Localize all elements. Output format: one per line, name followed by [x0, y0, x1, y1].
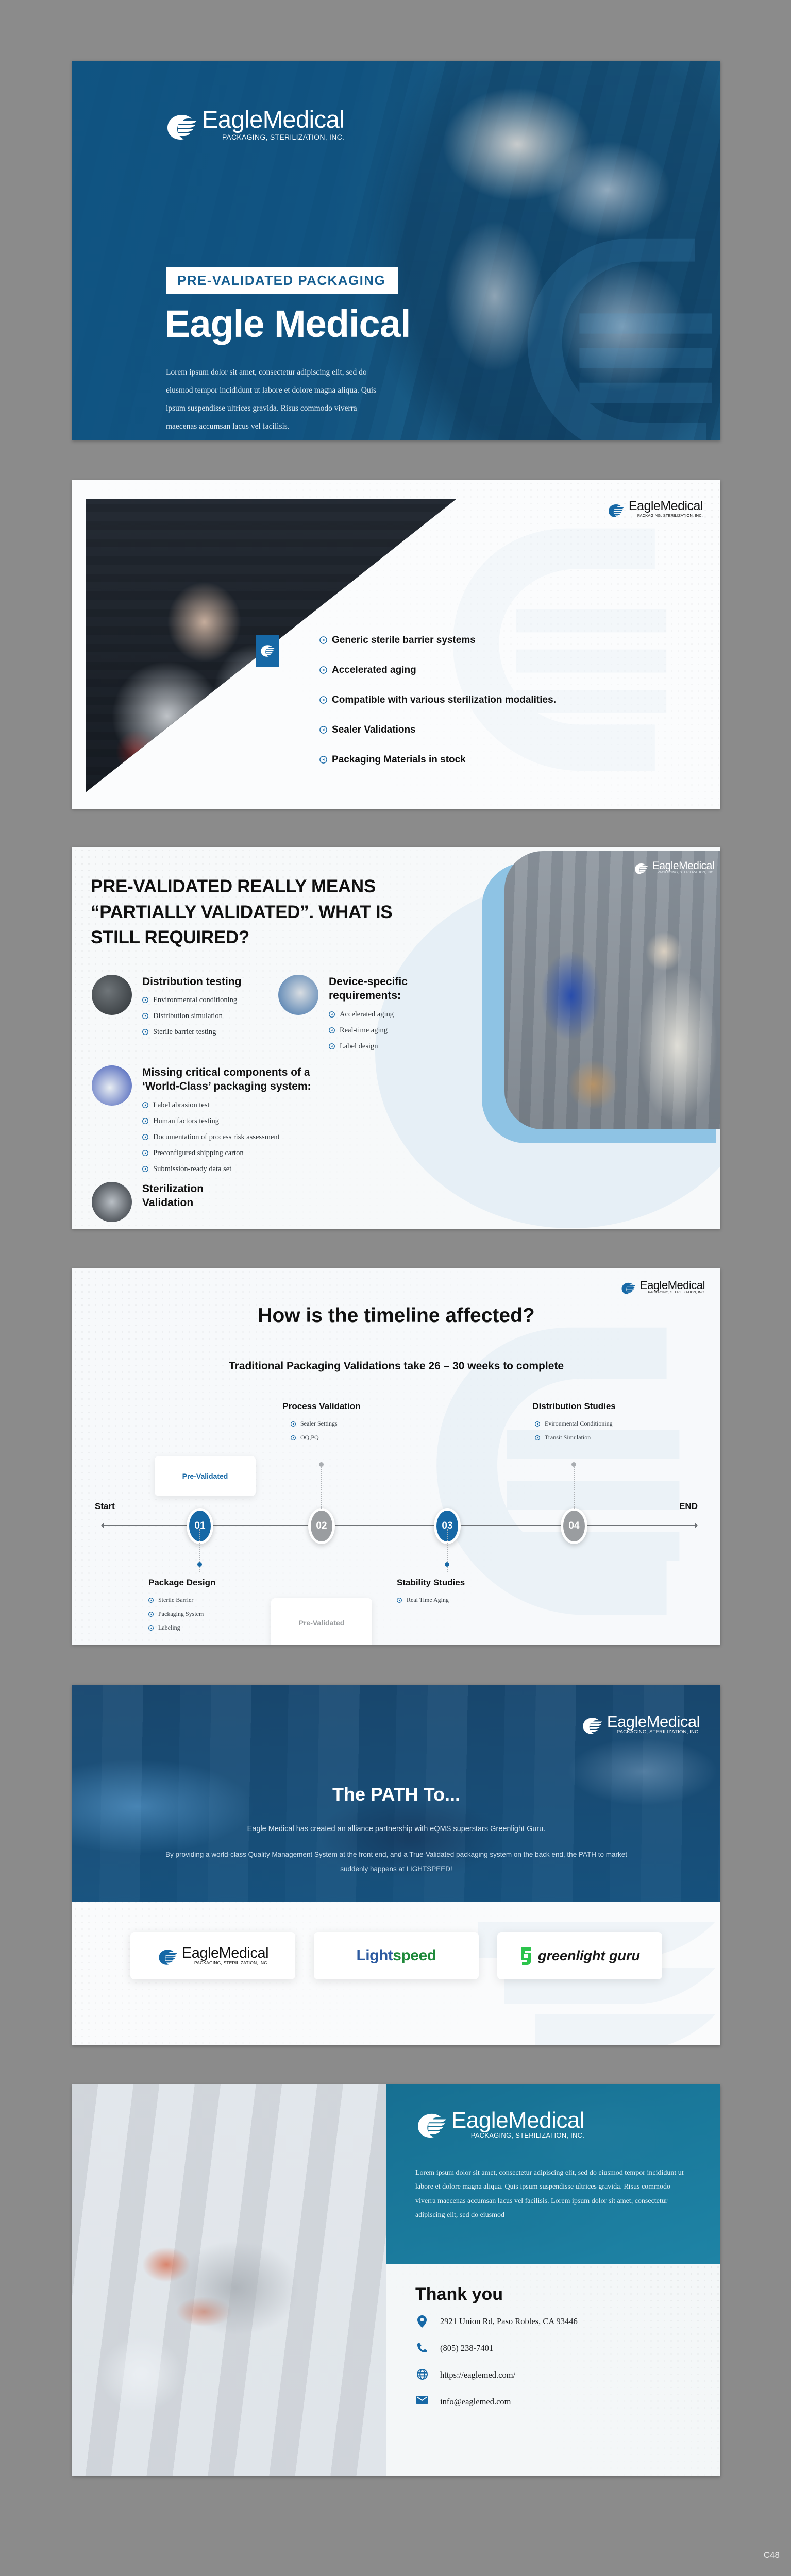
bullet-arrow-icon: [142, 1150, 148, 1159]
brand-tagline: PACKAGING, STERILIZATION, INC.: [182, 1961, 268, 1965]
contact-website: https://eaglemed.com/: [440, 2369, 515, 2381]
brand-name-part2: Medical: [508, 2109, 584, 2132]
list-item: Real-time aging: [329, 1026, 433, 1036]
partner-card-greenlightguru[interactable]: greenlight guru: [497, 1932, 662, 1979]
bullet-arrow-icon: [142, 1102, 148, 1111]
bullet-label: Labeling: [158, 1624, 180, 1632]
slide-title: Eagle Medical PACKAGING, STERILIZATION, …: [72, 61, 720, 440]
slide5-paragraph-1: Eagle Medical has created an alliance pa…: [72, 1825, 720, 1833]
brand-name-part2: Medical: [679, 860, 714, 871]
bullet-label: Sealer Validations: [332, 724, 416, 736]
slide-timeline: Eagle Medical PACKAGING, STERILIZATION, …: [72, 1268, 720, 1645]
bullet-label: Sealer Settings: [300, 1420, 338, 1428]
node-number: 02: [316, 1520, 327, 1532]
bullet-label: Real Time Aging: [407, 1596, 449, 1604]
globe-icon: [415, 2369, 429, 2380]
eagle-mark-icon: [581, 1717, 603, 1735]
lightspeed-word-1: Light: [356, 1947, 393, 1964]
col-heading: Package Design: [148, 1578, 272, 1588]
lightspeed-word-2: speed: [393, 1947, 436, 1964]
timeline-col-02: Process Validation Sealer Settings OQ,PQ: [260, 1401, 383, 1448]
bullet-arrow-icon: [142, 1166, 148, 1175]
bullet-label: OQ,PQ: [300, 1434, 319, 1442]
brand-tagline: PACKAGING, STERILIZATION, INC.: [629, 514, 703, 518]
brand-tagline: PACKAGING, STERILIZATION, INC.: [451, 2132, 584, 2139]
bullet-arrow-icon: [148, 1625, 154, 1633]
block-heading: Sterilization Validation: [142, 1182, 235, 1210]
bullet-arrow-icon: [142, 1029, 148, 1038]
slide3-title: PRE-VALIDATED REALLY MEANS “PARTIALLY VA…: [91, 874, 431, 951]
timeline-node-02[interactable]: 02: [308, 1508, 335, 1544]
thank-you-heading: Thank you: [415, 2284, 503, 2304]
bullet-arrow-icon: [329, 1043, 335, 1052]
envelope-icon: [415, 2396, 429, 2404]
bullet-label: Documentation of process risk assessment: [153, 1133, 280, 1142]
page-corner-code: C48: [764, 2550, 780, 2561]
eagle-mark-icon: [620, 1282, 636, 1295]
slide5-paragraph-2: By providing a world-class Quality Manag…: [165, 1848, 628, 1877]
thumbnail-photo: [92, 975, 132, 1015]
contact-phone: (805) 238-7401: [440, 2342, 493, 2354]
contact-row-address: 2921 Union Rd, Paso Robles, CA 93446: [415, 2315, 683, 2328]
brand-logo: Eagle Medical PACKAGING, STERILIZATION, …: [415, 2109, 584, 2139]
contact-row-email[interactable]: info@eaglemed.com: [415, 2396, 683, 2408]
slide-partially-validated: Eagle Medical PACKAGING, STERILIZATION, …: [72, 847, 720, 1229]
bullet-arrow-icon: [397, 1597, 402, 1605]
badge-label: Pre-Validated: [182, 1472, 228, 1480]
bullet-arrow-icon: [148, 1611, 154, 1619]
prevalidated-badge-01: Pre-Validated: [155, 1456, 256, 1496]
timeline-start-label: Start: [95, 1501, 115, 1512]
block-heading: Distribution testing: [142, 975, 242, 989]
block-bullets: Environmental conditioning Distribution …: [142, 996, 242, 1038]
eagle-mark-icon: [260, 645, 275, 657]
brand-logo: Eagle Medical PACKAGING, STERILIZATION, …: [581, 1714, 700, 1735]
brand-tagline: PACKAGING, STERILIZATION, INC.: [652, 871, 714, 875]
bullet-label: Accelerated aging: [332, 665, 416, 676]
list-item: Packaging Materials in stock: [319, 754, 556, 767]
col-bullets: Sealer Settings OQ,PQ: [260, 1420, 383, 1443]
brand-name-part1: Eagle: [202, 107, 263, 131]
bullet-label: Distribution simulation: [153, 1012, 223, 1021]
bullet-arrow-icon: [291, 1421, 296, 1429]
partner-logo-row: Eagle Medical PACKAGING, STERILIZATION, …: [72, 1932, 720, 1979]
block-bullets: Label abrasion test Human factors testin…: [142, 1101, 339, 1175]
bullet-arrow-icon: [148, 1597, 154, 1605]
contact-list: 2921 Union Rd, Paso Robles, CA 93446 (80…: [415, 2315, 683, 2422]
eagle-badge-icon: [256, 635, 279, 667]
bullet-arrow-icon: [319, 755, 327, 767]
list-item: Distribution simulation: [142, 1012, 242, 1022]
cleanroom-photo: [72, 2084, 386, 2476]
brand-logo: Eagle Medical PACKAGING, STERILIZATION, …: [634, 860, 714, 875]
timeline-end-label: END: [679, 1501, 698, 1512]
block-bullets: Accelerated aging Real-time aging Label …: [329, 1010, 433, 1052]
bullet-arrow-icon: [535, 1421, 540, 1429]
slide-thank-you: Eagle Medical PACKAGING, STERILIZATION, …: [72, 2084, 720, 2476]
stem-cap: [571, 1462, 576, 1467]
brand-tagline: PACKAGING, STERILIZATION, INC.: [640, 1291, 705, 1295]
eagle-mark-icon: [607, 504, 625, 518]
list-item: Accelerated aging: [319, 665, 556, 677]
bullet-label: Label design: [340, 1042, 378, 1051]
slide4-title: How is the timeline affected?: [72, 1304, 720, 1327]
bullet-label: Packaging Materials in stock: [332, 754, 466, 766]
timeline-col-04: Distribution Studies Evironmental Condit…: [512, 1401, 636, 1448]
contact-email: info@eaglemed.com: [440, 2396, 511, 2408]
list-item: Submission-ready data set: [142, 1165, 339, 1175]
timeline-col-03: Stability Studies Real Time Aging: [397, 1578, 520, 1610]
timeline-stem-04: [574, 1465, 575, 1509]
bullet-label: Accelerated aging: [340, 1010, 394, 1019]
brand-name-part1: Eagle: [629, 500, 660, 513]
list-item: Documentation of process risk assessment: [142, 1133, 339, 1143]
brand-tagline: PACKAGING, STERILIZATION, INC.: [607, 1730, 700, 1735]
available-bullet-list: Generic sterile barrier systems Accelera…: [319, 635, 556, 784]
eagle-mark-icon: [165, 114, 198, 141]
greenlight-guru-logo: greenlight guru: [519, 1946, 640, 1965]
brand-logo: Eagle Medical PACKAGING, STERILIZATION, …: [607, 500, 703, 518]
bullet-label: Environmental conditioning: [153, 996, 237, 1005]
eagle-mark-icon: [415, 2113, 447, 2139]
bullet-label: Generic sterile barrier systems: [332, 635, 476, 646]
phone-icon: [415, 2342, 429, 2353]
brand-name-part2: Medical: [668, 1280, 705, 1291]
slide5-title: The PATH To...: [72, 1784, 720, 1805]
brand-name-part2: Medical: [660, 500, 703, 513]
list-item: Real Time Aging: [397, 1596, 520, 1605]
bullet-arrow-icon: [319, 666, 327, 677]
badge-label: Pre-Validated: [299, 1619, 345, 1627]
bullet-label: Compatible with various sterilization mo…: [332, 694, 556, 706]
col-bullets: Evironmental Conditioning Transit Simula…: [512, 1420, 636, 1443]
stem-cap: [197, 1562, 202, 1567]
bullet-label: Evironmental Conditioning: [545, 1420, 613, 1428]
list-item: Sterile barrier testing: [142, 1028, 242, 1038]
list-item: OQ,PQ: [291, 1434, 383, 1443]
stem-cap: [319, 1462, 324, 1467]
bullet-label: Label abrasion test: [153, 1101, 210, 1110]
timeline-col-01: Package Design Sterile Barrier Packaging…: [148, 1578, 272, 1638]
col-bullets: Sterile Barrier Packaging System Labelin…: [148, 1596, 272, 1633]
list-item: Compatible with various sterilization mo…: [319, 694, 556, 707]
bullet-arrow-icon: [142, 1134, 148, 1143]
greenlight-g-icon: [519, 1946, 533, 1965]
list-item: Generic sterile barrier systems: [319, 635, 556, 647]
bullet-label: Sterile Barrier: [158, 1596, 193, 1604]
slide1-title: Eagle Medical: [165, 302, 410, 346]
brand-name-part1: Eagle: [607, 1714, 647, 1730]
bullet-arrow-icon: [329, 1011, 335, 1020]
greenlight-guru-wordmark: greenlight guru: [538, 1948, 640, 1964]
slide6-body-text: Lorem ipsum dolor sit amet, consectetur …: [415, 2166, 691, 2222]
timeline-node-04[interactable]: 04: [561, 1508, 587, 1544]
stem-cap: [445, 1562, 449, 1567]
brand-name-part1: Eagle: [182, 1946, 219, 1961]
list-item: Human factors testing: [142, 1117, 339, 1127]
slide1-kicker-text: PRE-VALIDATED PACKAGING: [177, 273, 385, 288]
contact-panel: Thank you 2921 Union Rd, Paso Robles, CA…: [386, 2264, 720, 2476]
contact-row-phone[interactable]: (805) 238-7401: [415, 2342, 683, 2354]
eagle-mark-icon: [157, 1949, 178, 1965]
contact-address: 2921 Union Rd, Paso Robles, CA 93446: [440, 2315, 578, 2328]
col-heading: Process Validation: [260, 1401, 383, 1412]
bullet-label: Real-time aging: [340, 1026, 388, 1035]
bullet-label: Human factors testing: [153, 1117, 219, 1126]
brand-name-part1: Eagle: [652, 860, 679, 871]
bullet-arrow-icon: [291, 1435, 296, 1443]
list-item: Labeling: [148, 1624, 272, 1633]
bullet-label: Packaging System: [158, 1610, 204, 1618]
list-item: Sealer Validations: [319, 724, 556, 737]
slide1-body-text: Lorem ipsum dolor sit amet, consectetur …: [166, 364, 377, 436]
col-heading: Stability Studies: [397, 1578, 520, 1588]
col-bullets: Real Time Aging: [397, 1596, 520, 1605]
timeline-stem-02: [321, 1465, 322, 1509]
brand-intro-panel: Eagle Medical PACKAGING, STERILIZATION, …: [386, 2084, 720, 2264]
brand-name-part1: Eagle: [451, 2109, 508, 2132]
slide4-subtitle: Traditional Packaging Validations take 2…: [72, 1360, 720, 1372]
block-device-specific: Device-specific requirements: Accelerate…: [278, 975, 433, 1058]
col-heading: Distribution Studies: [512, 1401, 636, 1412]
bullet-label: Submission-ready data set: [153, 1165, 231, 1174]
bullet-arrow-icon: [319, 725, 327, 737]
slide-path-to: Eagle Medical PACKAGING, STERILIZATION, …: [72, 1685, 720, 2045]
list-item: Environmental conditioning: [142, 996, 242, 1006]
prevalidated-badge-02: Pre-Validated: [271, 1598, 372, 1645]
brand-name-part2: Medical: [263, 107, 344, 131]
list-item: Label design: [329, 1042, 433, 1052]
list-item: Preconfigured shipping carton: [142, 1149, 339, 1159]
bullet-arrow-icon: [535, 1435, 540, 1443]
bullet-label: Sterile barrier testing: [153, 1028, 216, 1037]
partner-card-lightspeed[interactable]: Lightspeed: [314, 1932, 479, 1979]
thumbnail-photo: [278, 975, 318, 1015]
list-item: Sterile Barrier: [148, 1596, 272, 1605]
brand-name-part1: Eagle: [640, 1280, 668, 1291]
contact-row-website[interactable]: https://eaglemed.com/: [415, 2369, 683, 2381]
location-pin-icon: [415, 2315, 429, 2328]
list-item: Evironmental Conditioning: [535, 1420, 636, 1429]
bullet-label: Preconfigured shipping carton: [153, 1149, 244, 1158]
lightspeed-logo: Lightspeed: [356, 1947, 436, 1964]
factory-photo: [504, 851, 720, 1129]
brand-name-part2: Medical: [647, 1714, 700, 1730]
brand-tagline: PACKAGING, STERILIZATION, INC.: [202, 133, 344, 141]
block-distribution-testing: Distribution testing Environmental condi…: [92, 975, 262, 1044]
bullet-label: Transit Simulation: [545, 1434, 591, 1442]
list-item: Accelerated aging: [329, 1010, 433, 1020]
list-item: Label abrasion test: [142, 1101, 339, 1111]
list-item: Packaging System: [148, 1610, 272, 1619]
slide-available-market: Eagle Medical PACKAGING, STERILIZATION, …: [72, 480, 720, 809]
block-heading: Device-specific requirements:: [329, 975, 433, 1003]
bullet-arrow-icon: [329, 1027, 335, 1036]
list-item: Transit Simulation: [535, 1434, 636, 1443]
brand-logo: Eagle Medical PACKAGING, STERILIZATION, …: [165, 107, 344, 141]
thumbnail-photo: [92, 1065, 132, 1106]
bullet-arrow-icon: [319, 636, 327, 647]
list-item: Sealer Settings: [291, 1420, 383, 1429]
bullet-arrow-icon: [142, 1118, 148, 1127]
factory-photo-panel: Eagle Medical PACKAGING, STERILIZATION, …: [491, 851, 720, 1142]
node-number: 04: [568, 1520, 579, 1532]
brand-name-part2: Medical: [219, 1946, 268, 1961]
block-missing-components: Missing critical components of a ‘World-…: [92, 1065, 339, 1181]
partner-card-eaglemedical[interactable]: Eagle Medical PACKAGING, STERILIZATION, …: [130, 1932, 295, 1979]
brand-logo: Eagle Medical PACKAGING, STERILIZATION, …: [620, 1280, 705, 1295]
thumbnail-photo: [92, 1182, 132, 1222]
eaglemedical-logo: Eagle Medical PACKAGING, STERILIZATION, …: [157, 1946, 268, 1965]
bullet-arrow-icon: [319, 696, 327, 707]
block-sterilization-validation: Sterilization Validation: [92, 1182, 262, 1222]
eagle-mark-icon: [634, 863, 648, 875]
block-heading: Missing critical components of a ‘World-…: [142, 1065, 339, 1094]
slide1-kicker-badge: PRE-VALIDATED PACKAGING: [166, 267, 398, 294]
bullet-arrow-icon: [142, 1013, 148, 1022]
bullet-arrow-icon: [142, 997, 148, 1006]
